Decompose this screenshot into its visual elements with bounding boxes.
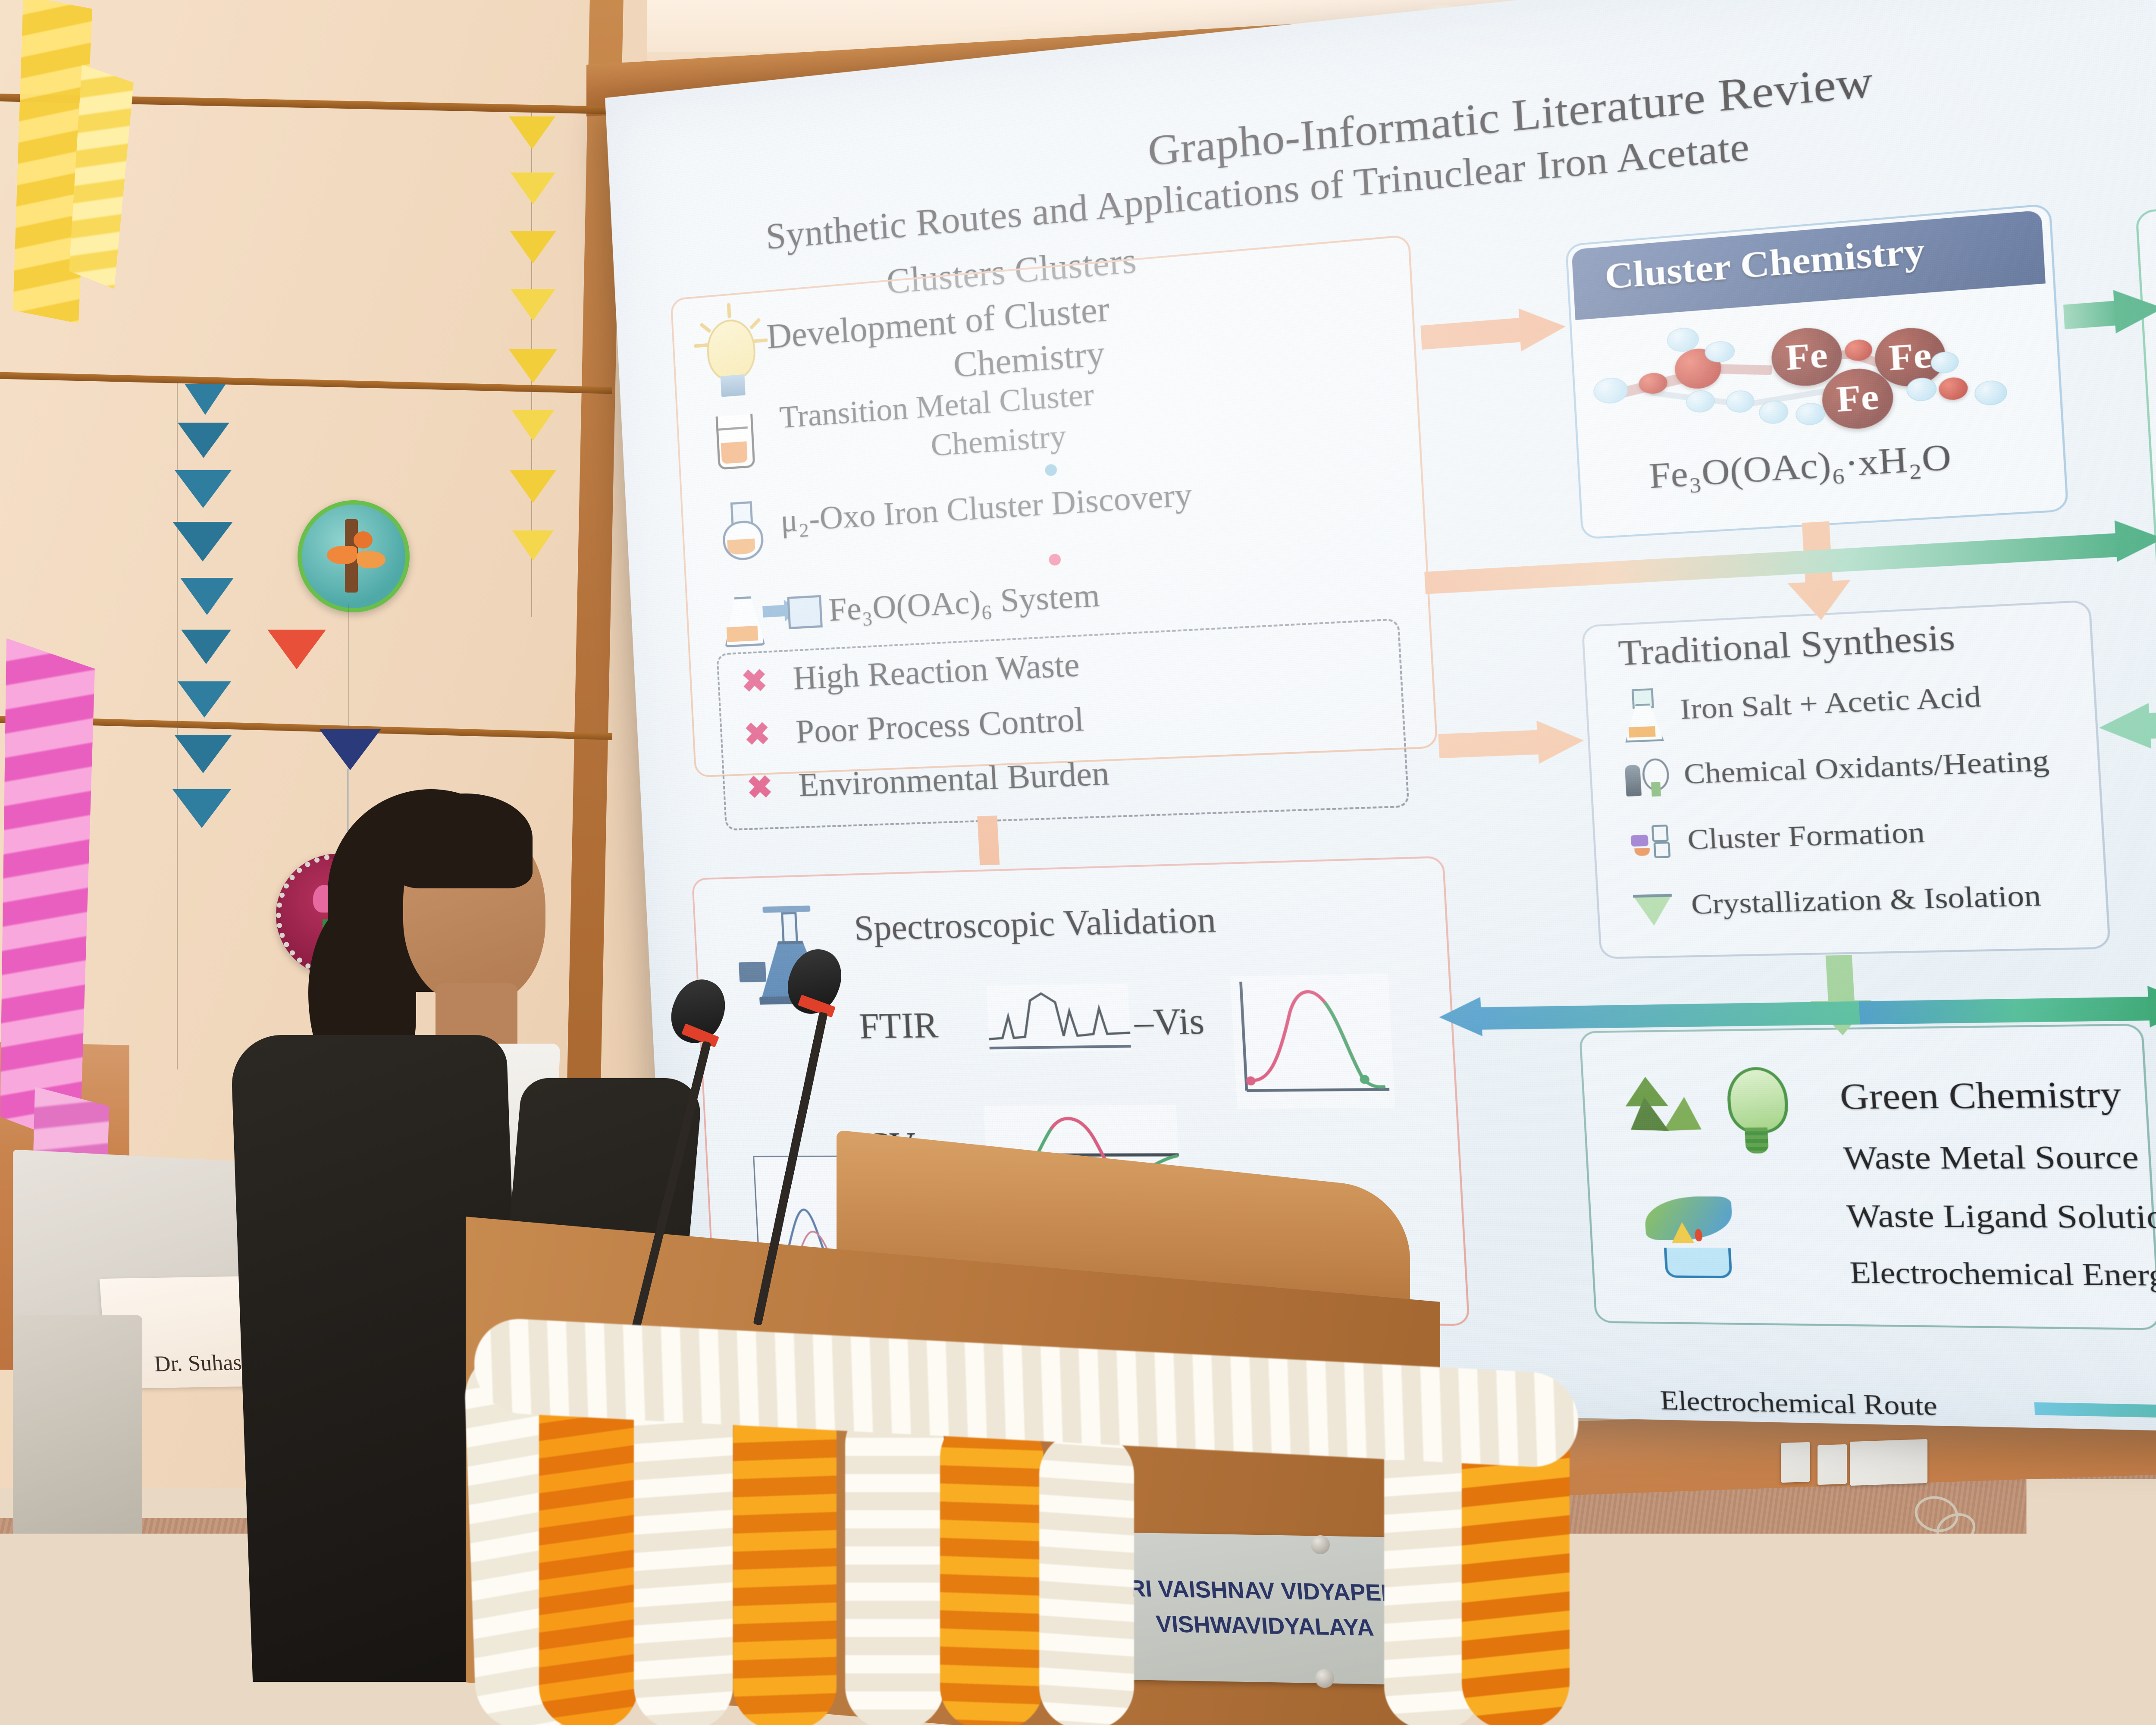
- spectro-item-ftir: FTIR: [858, 1004, 939, 1047]
- recycle-bulb-icon: [1718, 1067, 1792, 1168]
- wall-art-bird-plate: [298, 500, 410, 612]
- traditional-item-2: Cluster Formation: [1686, 815, 1925, 857]
- green-center-item-0: Waste Metal Source: [1843, 1138, 2140, 1177]
- presentation-room-photo: Grapho-Informatic Literature Review Synt…: [0, 0, 2156, 1725]
- green-center-item-2: Electrochemical Energy: [1849, 1255, 2156, 1294]
- wall-kite-red: [267, 630, 326, 669]
- flask-icon-ts: [1620, 688, 1662, 740]
- garland-orange-left: [539, 1371, 638, 1725]
- test-tube-icon: [716, 414, 755, 470]
- garland-white-right: [1039, 1432, 1134, 1725]
- podium-screw-1: [1311, 1535, 1330, 1554]
- garland-orange-mid: [733, 1389, 837, 1725]
- garland-white-mid2: [845, 1402, 944, 1725]
- problem-2-x-icon: ✖: [746, 768, 774, 806]
- wall-kite-navy: [319, 729, 381, 770]
- spectro-item-vis: –Vis: [1133, 1000, 1205, 1043]
- podium-nameplate-line1: SHRI VAISHNAV VIDYAPEETH: [1095, 1571, 1429, 1612]
- recycle-icon-gc-center: [1617, 1073, 1713, 1154]
- cluster-icon: [1630, 821, 1671, 867]
- power-socket-2[interactable]: [1818, 1444, 1847, 1485]
- flask-icon: [719, 501, 761, 560]
- plate-hanger-thread: [348, 604, 349, 733]
- ftir-spectrum-chart: [986, 983, 1131, 1052]
- energy-leaf-icon: [1633, 1192, 1762, 1283]
- green-center-item-1: Waste Ligand Solution: [1846, 1197, 2156, 1236]
- power-socket-1[interactable]: [1781, 1442, 1810, 1483]
- problem-1-x-icon: ✖: [743, 715, 771, 753]
- heating-icon: [1624, 755, 1667, 799]
- green-center-title: Green Chemistry: [1839, 1073, 2122, 1118]
- uvvis-chart: [1230, 973, 1395, 1109]
- flask-transfer-icon: [718, 585, 821, 647]
- legend-label-1: Electrochemical Route: [1659, 1384, 1938, 1422]
- power-socket-panel[interactable]: [1850, 1439, 1927, 1486]
- chair-seat: [13, 1315, 142, 1557]
- problem-0-x-icon: ✖: [740, 662, 768, 700]
- carpet-right: [1466, 1460, 2156, 1725]
- podium-screw-2: [1315, 1669, 1334, 1688]
- funnel-icon: [1633, 885, 1674, 932]
- podium-nameplate-line2: VISHWAVIDYALAYA: [1155, 1607, 1375, 1646]
- garland-orange-right: [940, 1414, 1044, 1725]
- garland-white-mid: [634, 1371, 733, 1725]
